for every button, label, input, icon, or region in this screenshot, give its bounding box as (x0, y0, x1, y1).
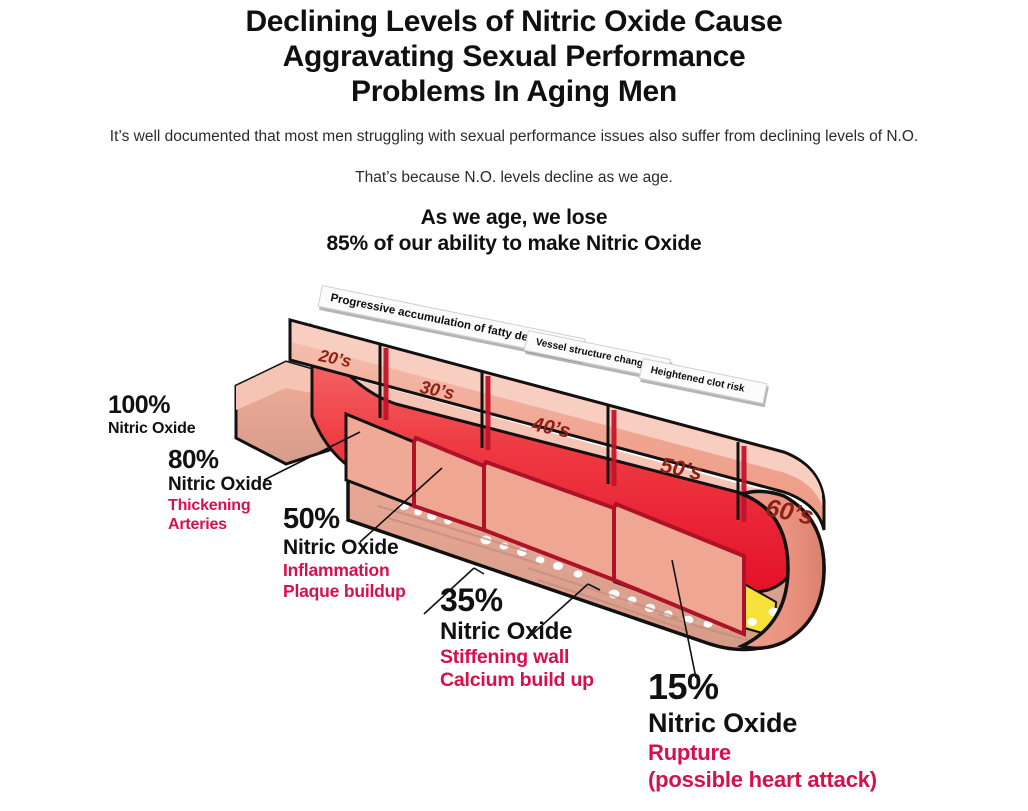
callout-15-note-1: Rupture (648, 739, 877, 766)
callout-80-note-2: Arteries (168, 515, 272, 534)
callout-35-note-2: Calcium build up (440, 669, 594, 692)
callout-15-percent: 15% (648, 667, 877, 707)
title-line-2: Aggravating Sexual Performance (0, 39, 1028, 74)
callout-15-note-2: (possible heart attack) (648, 766, 877, 793)
title-line-1: Declining Levels of Nitric Oxide Cause (0, 4, 1028, 39)
callout-50: 50% Nitric Oxide Inflammation Plaque bui… (283, 503, 406, 602)
callout-35-note-1: Stiffening wall (440, 646, 594, 669)
callout-35-percent: 35% (440, 583, 594, 618)
intro-paragraph-1: It’s well documented that most men strug… (0, 128, 1028, 146)
callout-80-note-1: Thickening (168, 496, 272, 515)
callout-35: 35% Nitric Oxide Stiffening wall Calcium… (440, 583, 594, 692)
callout-100-substance: Nitric Oxide (108, 419, 195, 439)
title-line-3: Problems In Aging Men (0, 74, 1028, 109)
intro-paragraph-2: That’s because N.O. levels decline as we… (0, 169, 1028, 187)
callout-15-substance: Nitric Oxide (648, 707, 877, 739)
callout-15: 15% Nitric Oxide Rupture (possible heart… (648, 667, 877, 793)
section-headline: As we age, we lose 85% of our ability to… (0, 205, 1028, 257)
infographic-root: Declining Levels of Nitric Oxide Cause A… (0, 0, 1028, 811)
callout-80: 80% Nitric Oxide Thickening Arteries (168, 445, 272, 534)
callout-50-note-2: Plaque buildup (283, 581, 406, 602)
callout-50-substance: Nitric Oxide (283, 535, 406, 560)
callout-80-substance: Nitric Oxide (168, 474, 272, 496)
callout-80-percent: 80% (168, 445, 272, 474)
callout-50-note-1: Inflammation (283, 560, 406, 581)
headline-line-2: 85% of our ability to make Nitric Oxide (0, 231, 1028, 257)
page-title: Declining Levels of Nitric Oxide Cause A… (0, 4, 1028, 109)
headline-line-1: As we age, we lose (0, 205, 1028, 231)
callout-100-percent: 100% (108, 392, 195, 419)
callout-100: 100% Nitric Oxide (108, 392, 195, 439)
callout-50-percent: 50% (283, 503, 406, 535)
callout-35-substance: Nitric Oxide (440, 618, 594, 646)
